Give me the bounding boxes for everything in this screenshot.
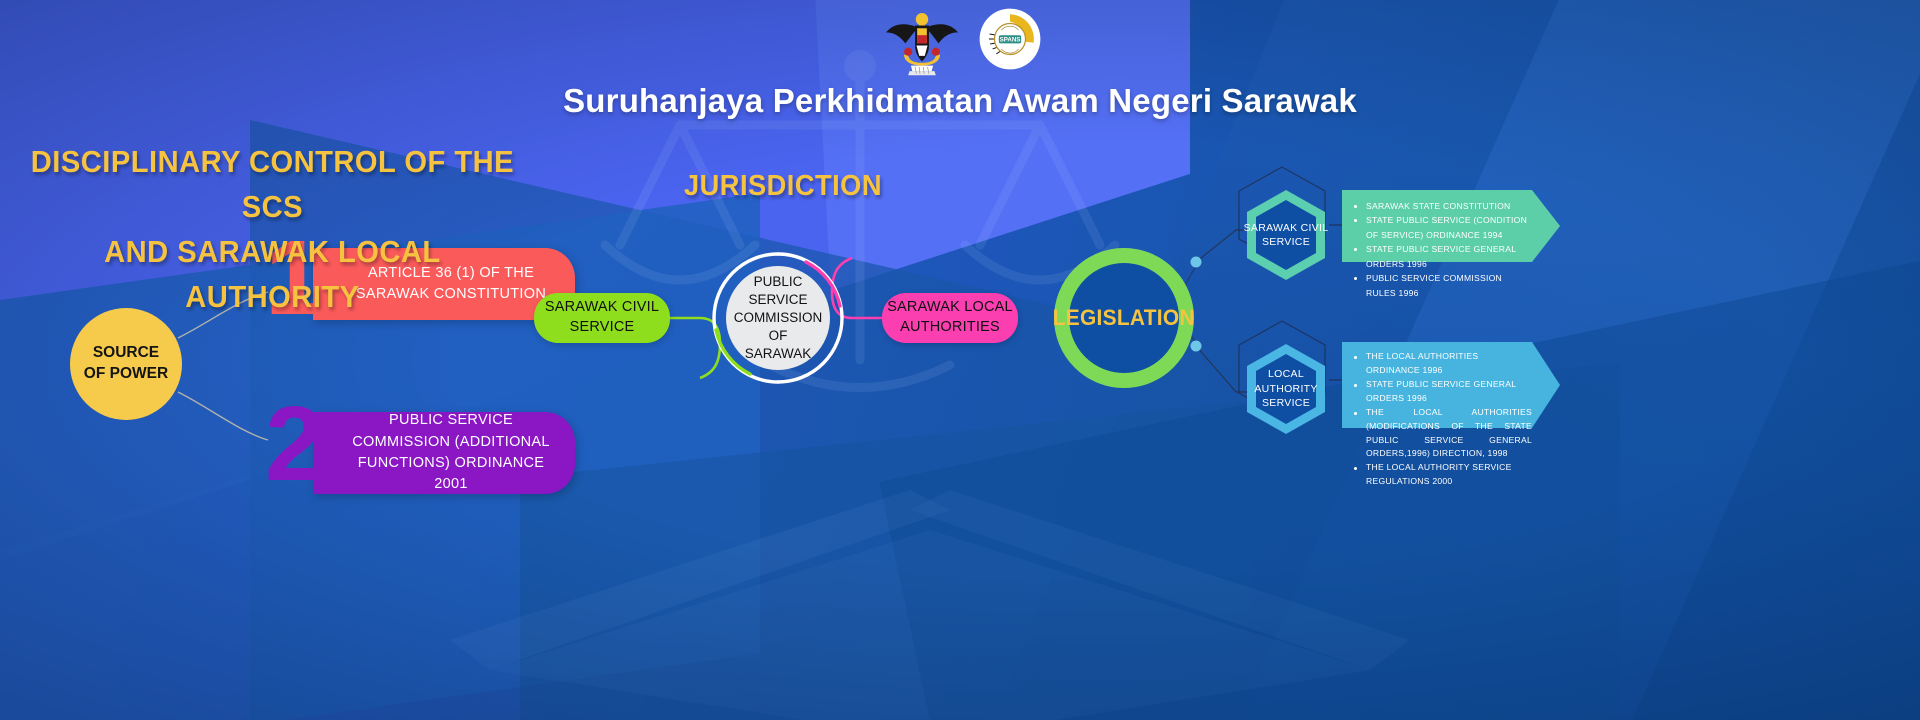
- center-node-label: PUBLIC SERVICE COMMISSION OF SARAWAK: [726, 266, 830, 370]
- page-header: SPANS Suruhanjaya Perkhidmatan Awam Nege…: [0, 0, 1920, 130]
- source-of-power-label-2: OF POWER: [84, 364, 168, 385]
- list-item: THE LOCAL AUTHORITY SERVICE REGULATIONS …: [1352, 461, 1534, 489]
- jurisdiction-center-node[interactable]: PUBLIC SERVICE COMMISSION OF SARAWAK: [710, 250, 846, 386]
- left-section-heading: DISCIPLINARY CONTROL OF THE SCS AND SARA…: [28, 140, 517, 320]
- list-item: STATE PUBLIC SERVICE GENERAL ORDERS 1996: [1352, 378, 1534, 406]
- left-heading-line-2: AND SARAWAK LOCAL AUTHORITY: [28, 230, 517, 320]
- hex-label-line: LOCAL AUTHORITY SERVICE: [1243, 367, 1329, 410]
- source-item-2-number: 2: [265, 400, 324, 489]
- list-item: SARAWAK STATE CONSTITUTION: [1352, 199, 1534, 213]
- legislation-node[interactable]: LEGISLATION: [1054, 248, 1194, 388]
- legislation-list-sarawak-civil-service: SARAWAK STATE CONSTITUTION STATE PUBLIC …: [1342, 190, 1560, 262]
- page-title: Suruhanjaya Perkhidmatan Awam Negeri Sar…: [0, 82, 1920, 120]
- source-item-2[interactable]: PUBLIC SERVICE COMMISSION (ADDITIONAL FU…: [263, 400, 513, 510]
- list-item: STATE PUBLIC SERVICE GENERAL ORDERS 1996: [1352, 242, 1534, 271]
- list-item: PUBLIC SERVICE COMMISSION RULES 1996: [1352, 271, 1534, 300]
- legislation-list-local-authority-service: THE LOCAL AUTHORITIES ORDINANCE 1996 STA…: [1342, 342, 1560, 428]
- left-heading-line-1: DISCIPLINARY CONTROL OF THE SCS: [28, 140, 517, 230]
- spans-logo-icon: SPANS: [979, 8, 1041, 70]
- hex-label-line: SARAWAK CIVIL SERVICE: [1243, 221, 1329, 250]
- legislation-label: LEGISLATION: [1053, 305, 1195, 331]
- jurisdiction-pill-sarawak-local-authorities[interactable]: SARAWAK LOCAL AUTHORITIES: [882, 293, 1018, 343]
- hexagon-sarawak-civil-service[interactable]: SARAWAK CIVIL SERVICE: [1243, 187, 1329, 283]
- spans-logo-text: SPANS: [1000, 36, 1021, 43]
- infographic-canvas: SPANS Suruhanjaya Perkhidmatan Awam Nege…: [0, 0, 1920, 720]
- hexagon-local-authority-service-label: LOCAL AUTHORITY SERVICE: [1243, 341, 1329, 437]
- hexagon-sarawak-civil-service-label: SARAWAK CIVIL SERVICE: [1243, 187, 1329, 283]
- hexagon-local-authority-service[interactable]: LOCAL AUTHORITY SERVICE: [1243, 341, 1329, 437]
- source-item-2-label: PUBLIC SERVICE COMMISSION (ADDITIONAL FU…: [313, 412, 575, 494]
- legislation-list-las-items: THE LOCAL AUTHORITIES ORDINANCE 1996 STA…: [1352, 350, 1534, 489]
- legislation-list-scs-items: SARAWAK STATE CONSTITUTION STATE PUBLIC …: [1352, 199, 1534, 300]
- list-item: THE LOCAL AUTHORITIES (MODIFICATIONS OF …: [1352, 406, 1534, 462]
- source-of-power-node[interactable]: SOURCE OF POWER: [70, 308, 182, 420]
- source-of-power-label-1: SOURCE: [93, 343, 159, 364]
- list-item: STATE PUBLIC SERVICE (CONDITION OF SERVI…: [1352, 213, 1534, 242]
- jurisdiction-heading: JURISDICTION: [684, 170, 882, 203]
- sarawak-state-crest-icon: [879, 2, 965, 78]
- jurisdiction-pill-sarawak-civil-service[interactable]: SARAWAK CIVIL SERVICE: [534, 293, 670, 343]
- list-item: THE LOCAL AUTHORITIES ORDINANCE 1996: [1352, 350, 1534, 378]
- logo-row: SPANS: [0, 0, 1920, 80]
